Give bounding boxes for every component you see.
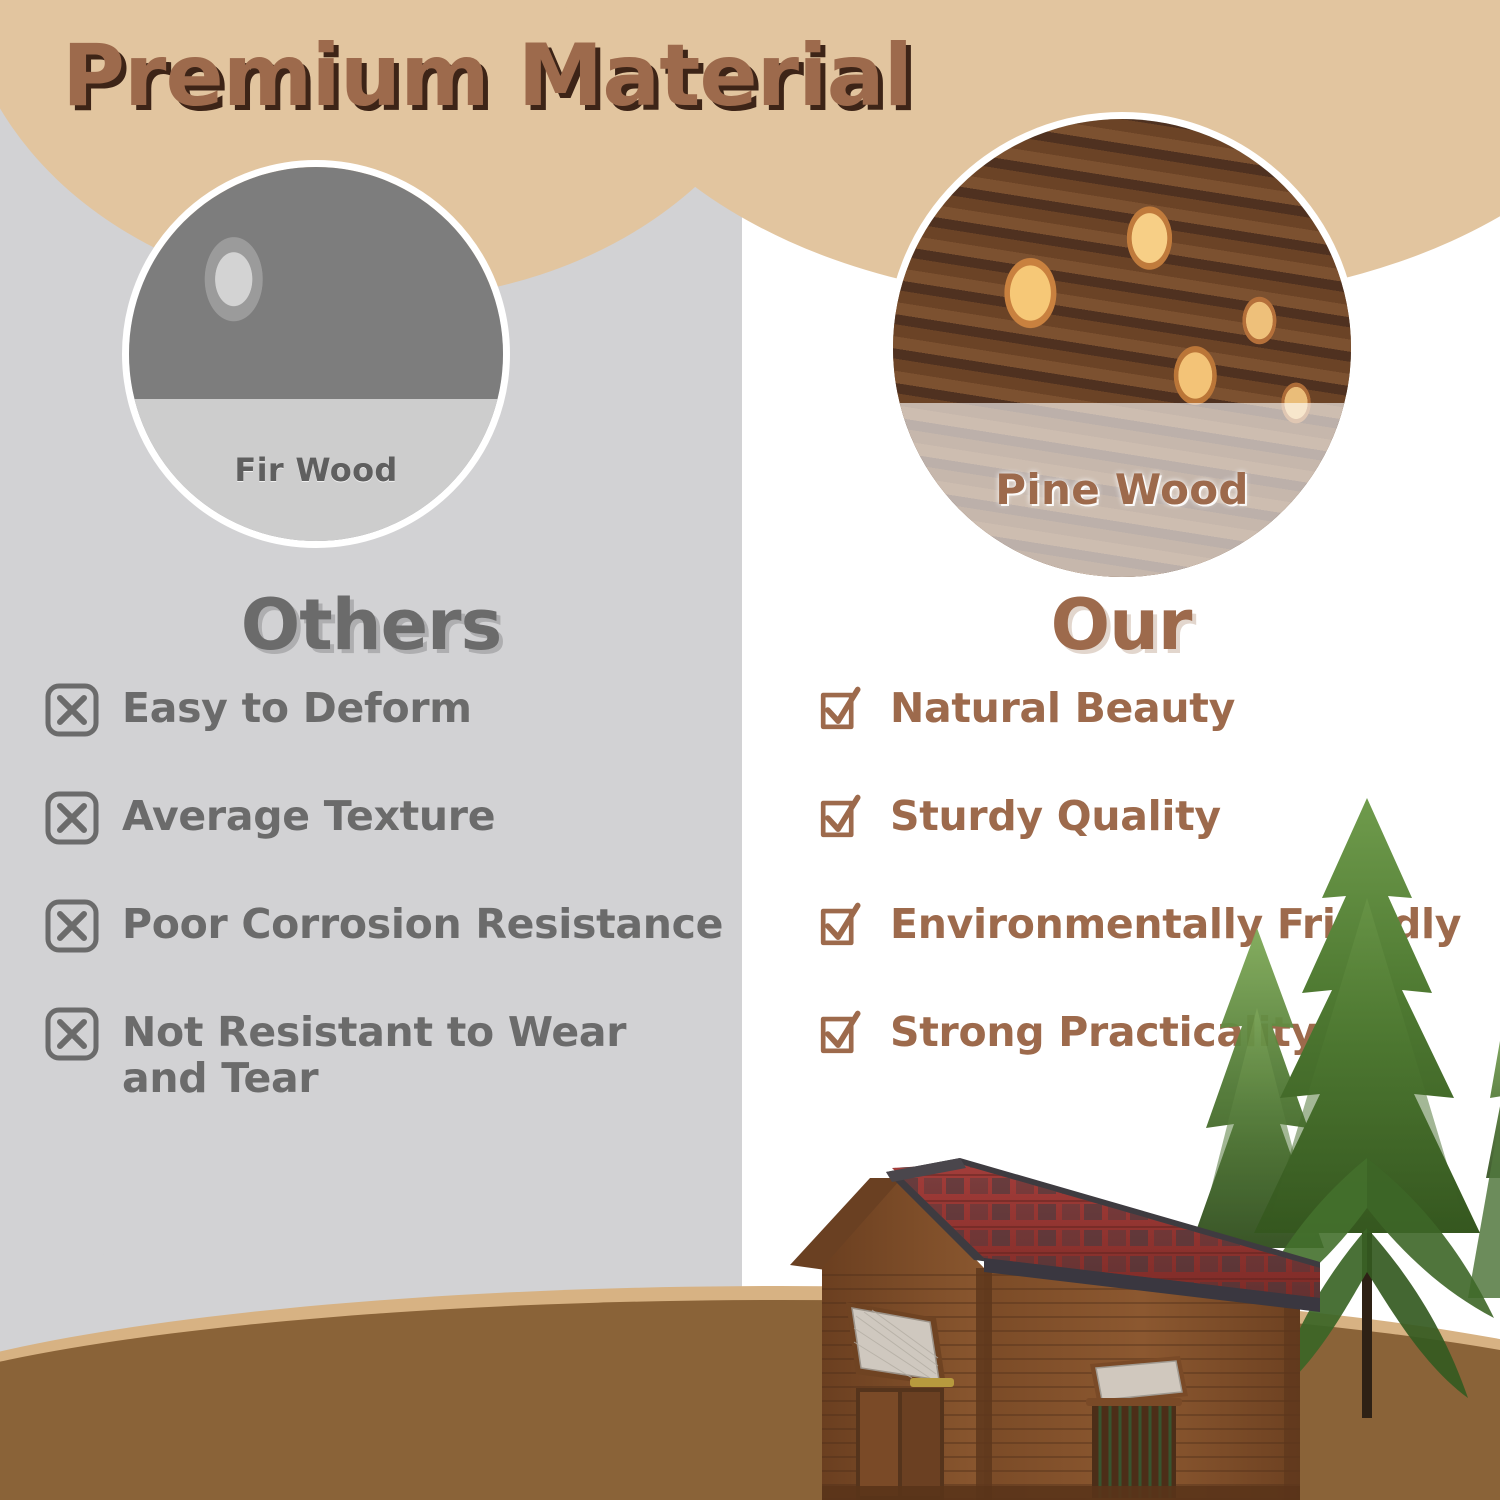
list-item: Average Texture: [44, 794, 744, 850]
check-mark-checkbox-icon: [812, 1006, 868, 1062]
list-item-label: Environmentally Friendly: [890, 902, 1461, 948]
list-item: Easy to Deform: [44, 686, 744, 742]
page-title: Premium Material: [62, 26, 912, 126]
fir-wood-caption-band: Fir Wood: [129, 399, 503, 541]
others-feature-list: Easy to Deform Average Texture Poor Corr…: [44, 686, 744, 1154]
list-item: Not Resistant to Wear and Tear: [44, 1010, 744, 1102]
list-item: Natural Beauty: [812, 686, 1500, 742]
list-item: Poor Corrosion Resistance: [44, 902, 744, 958]
infographic-canvas: Premium Material Fir Wood Pine Wood Othe…: [0, 0, 1500, 1500]
others-column-heading: Others: [0, 584, 742, 666]
list-item-label: Sturdy Quality: [890, 794, 1221, 840]
pine-wood-caption-band: Pine Wood: [893, 403, 1351, 577]
fir-wood-photo-circle: Fir Wood: [122, 160, 510, 548]
check-mark-checkbox-icon: [812, 898, 868, 954]
list-item-label: Not Resistant to Wear and Tear: [122, 1010, 642, 1102]
list-item-label: Natural Beauty: [890, 686, 1235, 732]
check-mark-checkbox-icon: [812, 790, 868, 846]
x-mark-checkbox-icon: [44, 790, 100, 846]
fir-wood-label: Fir Wood: [234, 451, 397, 489]
x-mark-checkbox-icon: [44, 898, 100, 954]
list-item-label: Easy to Deform: [122, 686, 472, 732]
list-item: Sturdy Quality: [812, 794, 1500, 850]
list-item-label: Strong Practicality: [890, 1010, 1317, 1056]
list-item: Strong Practicality: [812, 1010, 1500, 1066]
list-item-label: Average Texture: [122, 794, 495, 840]
our-column-heading: Our: [742, 584, 1500, 666]
list-item: Environmentally Friendly: [812, 902, 1500, 958]
pine-wood-photo-circle: Pine Wood: [886, 112, 1358, 584]
pine-wood-label: Pine Wood: [995, 465, 1249, 514]
x-mark-checkbox-icon: [44, 682, 100, 738]
our-feature-list: Natural Beauty Sturdy Quality Environmen…: [812, 686, 1500, 1118]
wooden-dog-house-photo: [760, 1150, 1320, 1500]
check-mark-checkbox-icon: [812, 682, 868, 738]
list-item-label: Poor Corrosion Resistance: [122, 902, 723, 948]
x-mark-checkbox-icon: [44, 1006, 100, 1062]
